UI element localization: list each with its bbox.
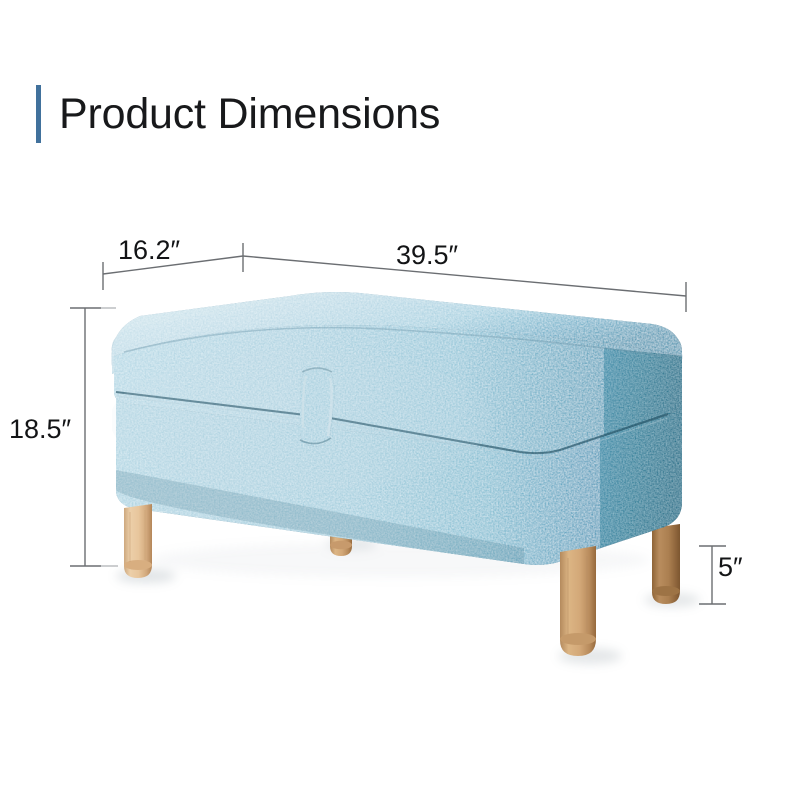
bench-leg-back-right bbox=[652, 524, 680, 604]
bench-leg-front-left bbox=[124, 504, 152, 578]
height-dimension-line bbox=[70, 308, 101, 566]
product-dimensions-infographic: Product Dimensions 16.2″ 39.5″ 18.5″ 5″ bbox=[0, 0, 800, 800]
floor-shadow bbox=[116, 538, 700, 664]
product-illustration bbox=[0, 0, 800, 800]
body-highlight bbox=[110, 350, 490, 490]
depth-dimension-line bbox=[103, 243, 243, 290]
bench-leg-front-right bbox=[560, 546, 596, 656]
leg-height-dimension-line bbox=[699, 546, 726, 604]
